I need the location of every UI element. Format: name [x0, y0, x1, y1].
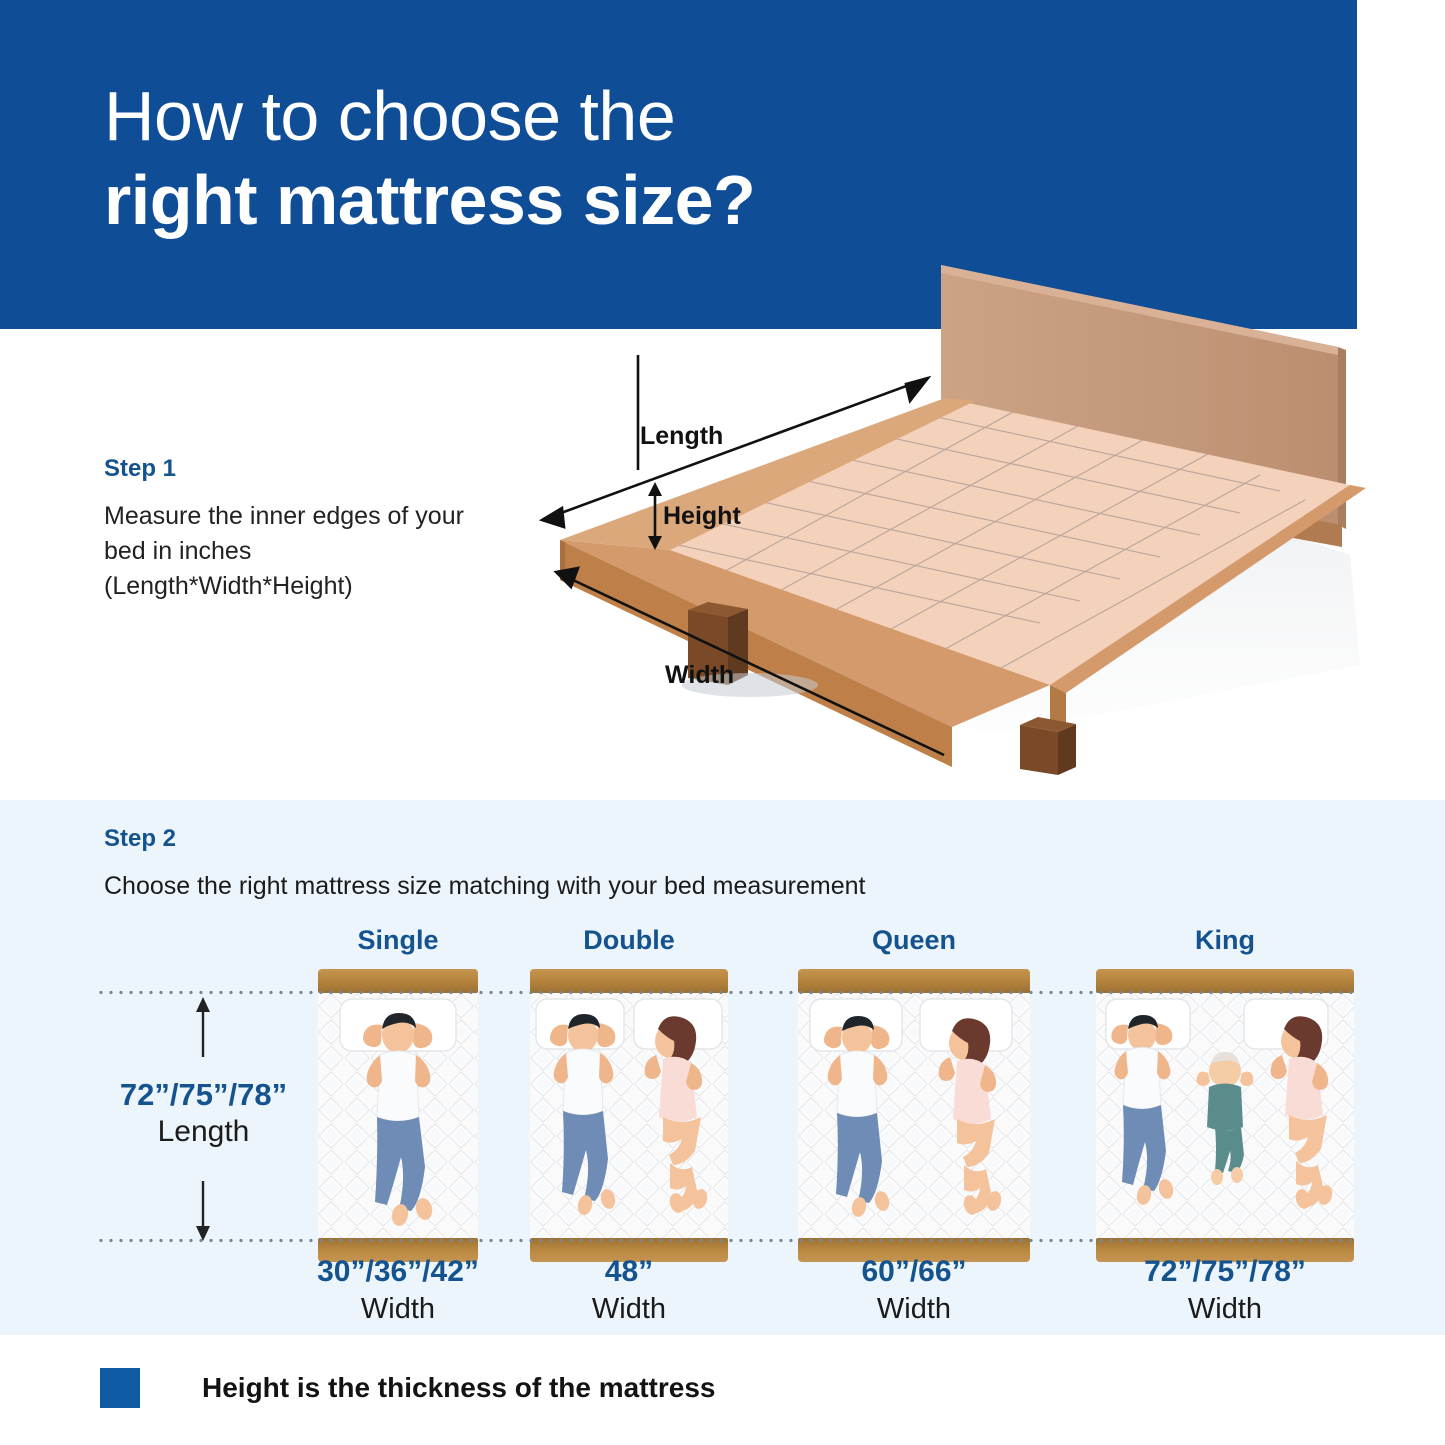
width-word-queen: Width — [789, 1293, 1039, 1326]
mattress-surface-king — [1096, 993, 1354, 1238]
footer-note-text: Height is the thickness of the mattress — [202, 1372, 715, 1404]
step-2-block: Step 2 Choose the right mattress size ma… — [104, 825, 865, 903]
step-1-description: Measure the inner edges of your bed in i… — [104, 499, 504, 604]
mattress-size-label-double: Double — [530, 925, 728, 956]
step-2-description: Choose the right mattress size matching … — [104, 869, 865, 903]
width-label-king: 72”/75”/78” Width — [1095, 1255, 1355, 1326]
mattress-size-label-single: Single — [318, 925, 478, 956]
length-value: 72”/75”/78” — [96, 1077, 311, 1113]
width-word-single: Width — [268, 1293, 528, 1326]
width-value-double: 48” — [504, 1255, 754, 1289]
bed-width-label: Width — [665, 661, 734, 690]
mattress-card-single[interactable]: Single — [318, 925, 478, 1245]
legend-swatch-icon — [100, 1368, 140, 1408]
bed-length-label: Length — [640, 422, 723, 451]
step-2-label: Step 2 — [104, 825, 865, 853]
width-word-king: Width — [1095, 1293, 1355, 1326]
infographic-page: How to choose the right mattress size? S… — [0, 0, 1445, 1445]
page-title: How to choose the right mattress size? — [104, 75, 755, 243]
mattress-surface-single — [318, 993, 478, 1238]
mattress-card-double[interactable]: Double — [530, 925, 728, 1245]
length-word: Length — [96, 1115, 311, 1149]
width-word-double: Width — [504, 1293, 754, 1326]
step-1-label: Step 1 — [104, 455, 504, 483]
bed-height-label: Height — [663, 502, 741, 531]
mattress-size-label-queen: Queen — [798, 925, 1030, 956]
mattress-surface-double — [530, 993, 728, 1238]
title-line-2: right mattress size? — [104, 157, 755, 243]
mattress-size-label-king: King — [1096, 925, 1354, 956]
title-line-1: How to choose the — [104, 75, 755, 157]
width-label-queen: 60”/66” Width — [789, 1255, 1039, 1326]
width-label-double: 48” Width — [504, 1255, 754, 1326]
mattress-card-queen[interactable]: Queen — [798, 925, 1030, 1245]
width-value-queen: 60”/66” — [789, 1255, 1039, 1289]
mattress-card-king[interactable]: King — [1096, 925, 1354, 1245]
footer-note: Height is the thickness of the mattress — [100, 1368, 715, 1408]
width-label-single: 30”/36”/42” Width — [268, 1255, 528, 1326]
length-measure: 72”/75”/78” Length — [96, 995, 311, 1240]
step-1-block: Step 1 Measure the inner edges of your b… — [104, 455, 504, 604]
mattress-surface-queen — [798, 993, 1030, 1238]
width-value-king: 72”/75”/78” — [1095, 1255, 1355, 1289]
width-value-single: 30”/36”/42” — [268, 1255, 528, 1289]
